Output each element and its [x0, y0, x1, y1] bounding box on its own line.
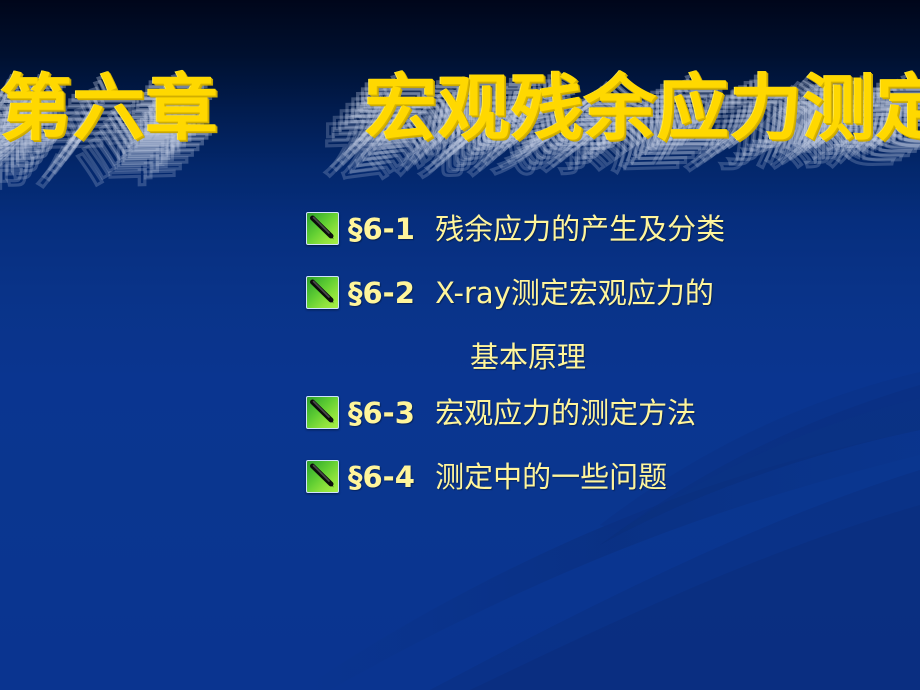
presentation-slide: 第六章 宏观残余应力测定 第六章 宏观残余应力测定 第六章 宏观残余应力测定 第…	[0, 0, 920, 690]
list-item-label: §6-3 宏观应力的测定方法	[348, 390, 696, 436]
list-item-continuation: 基本原理	[306, 334, 906, 390]
green-pencil-icon	[306, 276, 339, 309]
list-item[interactable]: §6-4 测定中的一些问题	[306, 454, 906, 518]
list-item[interactable]: §6-3 宏观应力的测定方法	[306, 390, 906, 454]
green-pencil-icon	[306, 212, 339, 245]
bullet-list: §6-1 残余应力的产生及分类 §6-2 X-ray测定宏观应力的 基本原理	[306, 206, 906, 518]
green-pencil-icon	[306, 460, 339, 493]
list-item-label: §6-1 残余应力的产生及分类	[348, 206, 725, 252]
list-item[interactable]: §6-2 X-ray测定宏观应力的	[306, 270, 906, 334]
list-item[interactable]: §6-1 残余应力的产生及分类	[306, 206, 906, 270]
list-item-label: 基本原理	[470, 334, 586, 380]
green-pencil-icon	[306, 396, 339, 429]
list-item-label: §6-2 X-ray测定宏观应力的	[348, 270, 714, 316]
list-item-label: §6-4 测定中的一些问题	[348, 454, 667, 500]
slide-title: 第六章 宏观残余应力测定 第六章 宏观残余应力测定 第六章 宏观残余应力测定 第…	[0, 56, 920, 186]
title-face: 第六章 宏观残余应力测定	[0, 56, 920, 160]
